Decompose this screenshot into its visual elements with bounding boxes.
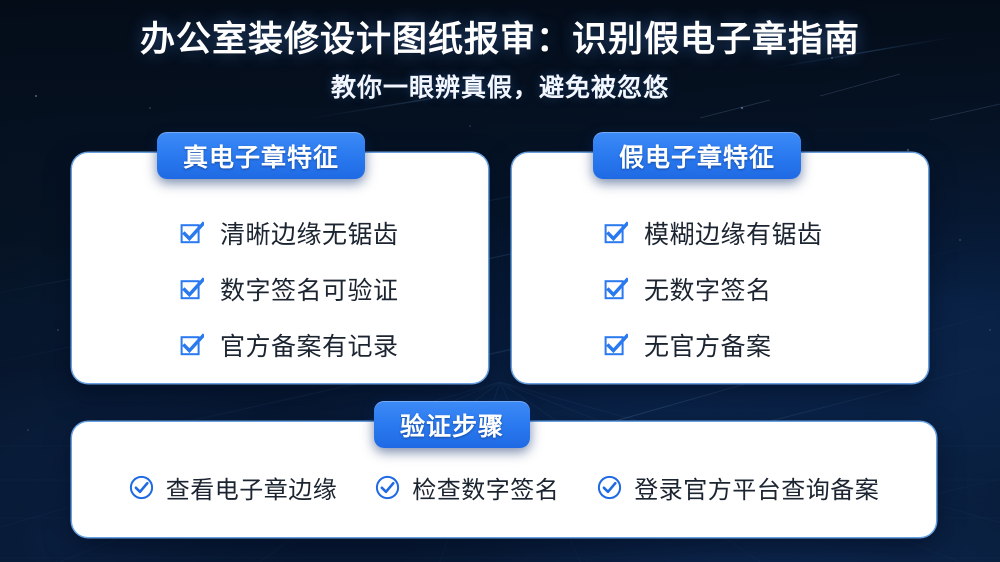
true-seal-card-title: 真电子章特征 [183,138,339,174]
list-item: 登录官方平台查询备案 [597,470,879,505]
list-item-label: 官方备案有记录 [220,327,399,363]
circle-check-icon [597,475,622,500]
list-item: 查看电子章边缘 [129,470,338,505]
list-item: 清晰边缘无锯齿 [180,205,488,261]
circle-check-icon [375,475,400,500]
list-item-label: 无官方备案 [644,327,772,363]
list-item-label: 无数字签名 [644,271,772,307]
list-item: 检查数字签名 [375,470,559,505]
verification-steps-row: 查看电子章边缘 检查数字签名 登录官方平台查 [72,470,936,505]
list-item: 数字签名可验证 [180,261,488,317]
list-item-label: 数字签名可验证 [220,271,399,307]
verification-steps-header-pill: 验证步骤 [374,401,530,448]
fake-seal-card: 模糊边缘有锯齿 无数字签名 无官方备案 [512,153,928,383]
list-item: 模糊边缘有锯齿 [604,205,928,261]
checkbox-check-icon [180,333,204,357]
list-item-label: 清晰边缘无锯齿 [220,215,399,251]
true-seal-feature-list: 清晰边缘无锯齿 数字签名可验证 官方备案有记 [72,205,488,373]
page-title: 办公室装修设计图纸报审：识别假电子章指南 [0,18,1000,62]
list-item: 无数字签名 [604,261,928,317]
checkbox-check-icon [180,221,204,245]
true-seal-card: 清晰边缘无锯齿 数字签名可验证 官方备案有记 [72,153,488,383]
checkbox-check-icon [604,277,628,301]
circle-check-icon [129,475,154,500]
checkbox-check-icon [604,221,628,245]
list-item-label: 检查数字签名 [412,470,559,505]
true-seal-card-header-pill: 真电子章特征 [157,132,365,179]
list-item-label: 登录官方平台查询备案 [634,470,879,505]
fake-seal-card-title: 假电子章特征 [619,138,775,174]
verification-steps-title: 验证步骤 [400,407,504,443]
header-block: 办公室装修设计图纸报审：识别假电子章指南 教你一眼辨真假，避免被忽悠 [0,18,1000,104]
checkbox-check-icon [604,333,628,357]
checkbox-check-icon [180,277,204,301]
infographic-canvas: 办公室装修设计图纸报审：识别假电子章指南 教你一眼辨真假，避免被忽悠 清晰边缘无… [0,0,1000,562]
fake-seal-card-header-pill: 假电子章特征 [593,132,801,179]
list-item-label: 模糊边缘有锯齿 [644,215,823,251]
list-item: 官方备案有记录 [180,317,488,373]
page-subtitle: 教你一眼辨真假，避免被忽悠 [0,68,1000,104]
fake-seal-feature-list: 模糊边缘有锯齿 无数字签名 无官方备案 [512,205,928,373]
list-item: 无官方备案 [604,317,928,373]
list-item-label: 查看电子章边缘 [166,470,338,505]
